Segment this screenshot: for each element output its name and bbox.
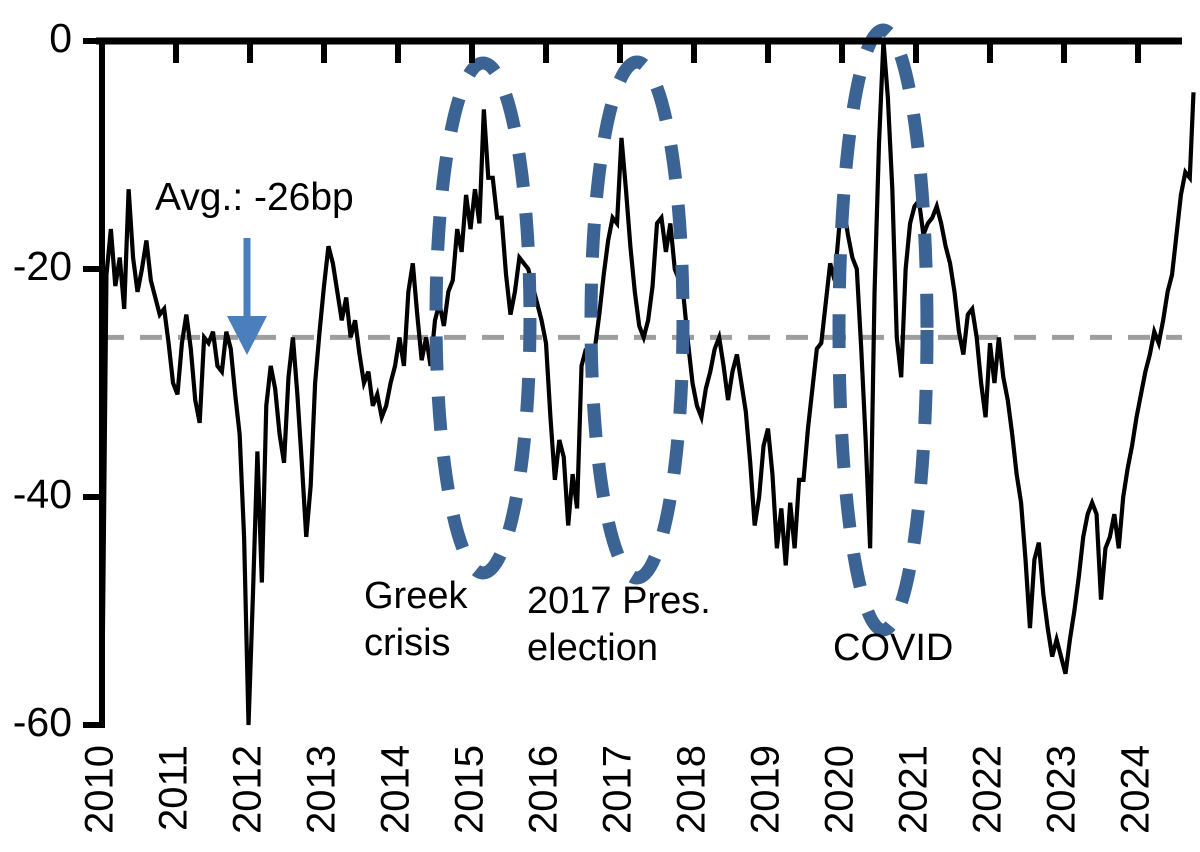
x-tick-label: 2021 xyxy=(892,745,936,834)
x-tick-label: 2015 xyxy=(448,745,492,834)
line-chart: 0-20-40-60 20102011201220132014201520162… xyxy=(0,0,1200,852)
x-tick-label: 2010 xyxy=(78,745,122,834)
greek-crisis-label-line1: Greek xyxy=(364,575,468,617)
x-tick-label: 2023 xyxy=(1040,745,1084,834)
pres-election-label-line2: election xyxy=(527,627,658,669)
x-tick-label: 2014 xyxy=(374,745,418,834)
x-tick-label: 2017 xyxy=(596,745,640,834)
x-tick-label: 2018 xyxy=(670,745,714,834)
x-tick-label: 2016 xyxy=(522,745,566,834)
pres-election-label-line1: 2017 Pres. xyxy=(527,580,711,622)
greek-crisis-label-line2: crisis xyxy=(364,622,451,664)
x-axis-tick-labels: 2010201120122013201420152016201720182019… xyxy=(78,745,1158,834)
x-tick-label: 2011 xyxy=(152,745,196,831)
y-tick-label: -60 xyxy=(13,699,72,745)
x-tick-label: 2022 xyxy=(966,745,1010,834)
x-tick-label: 2013 xyxy=(300,745,344,834)
x-tick-label: 2019 xyxy=(744,745,788,834)
avg-callout-label: Avg.: -26bp xyxy=(155,176,354,219)
covid-label: COVID xyxy=(833,627,953,669)
y-tick-label: 0 xyxy=(49,15,72,61)
y-tick-label: -40 xyxy=(13,471,72,517)
y-tick-label: -20 xyxy=(13,243,72,289)
x-tick-label: 2012 xyxy=(226,745,270,834)
x-tick-label: 2020 xyxy=(818,745,862,834)
x-tick-label: 2024 xyxy=(1114,745,1158,834)
chart-root: 0-20-40-60 20102011201220132014201520162… xyxy=(0,0,1200,852)
